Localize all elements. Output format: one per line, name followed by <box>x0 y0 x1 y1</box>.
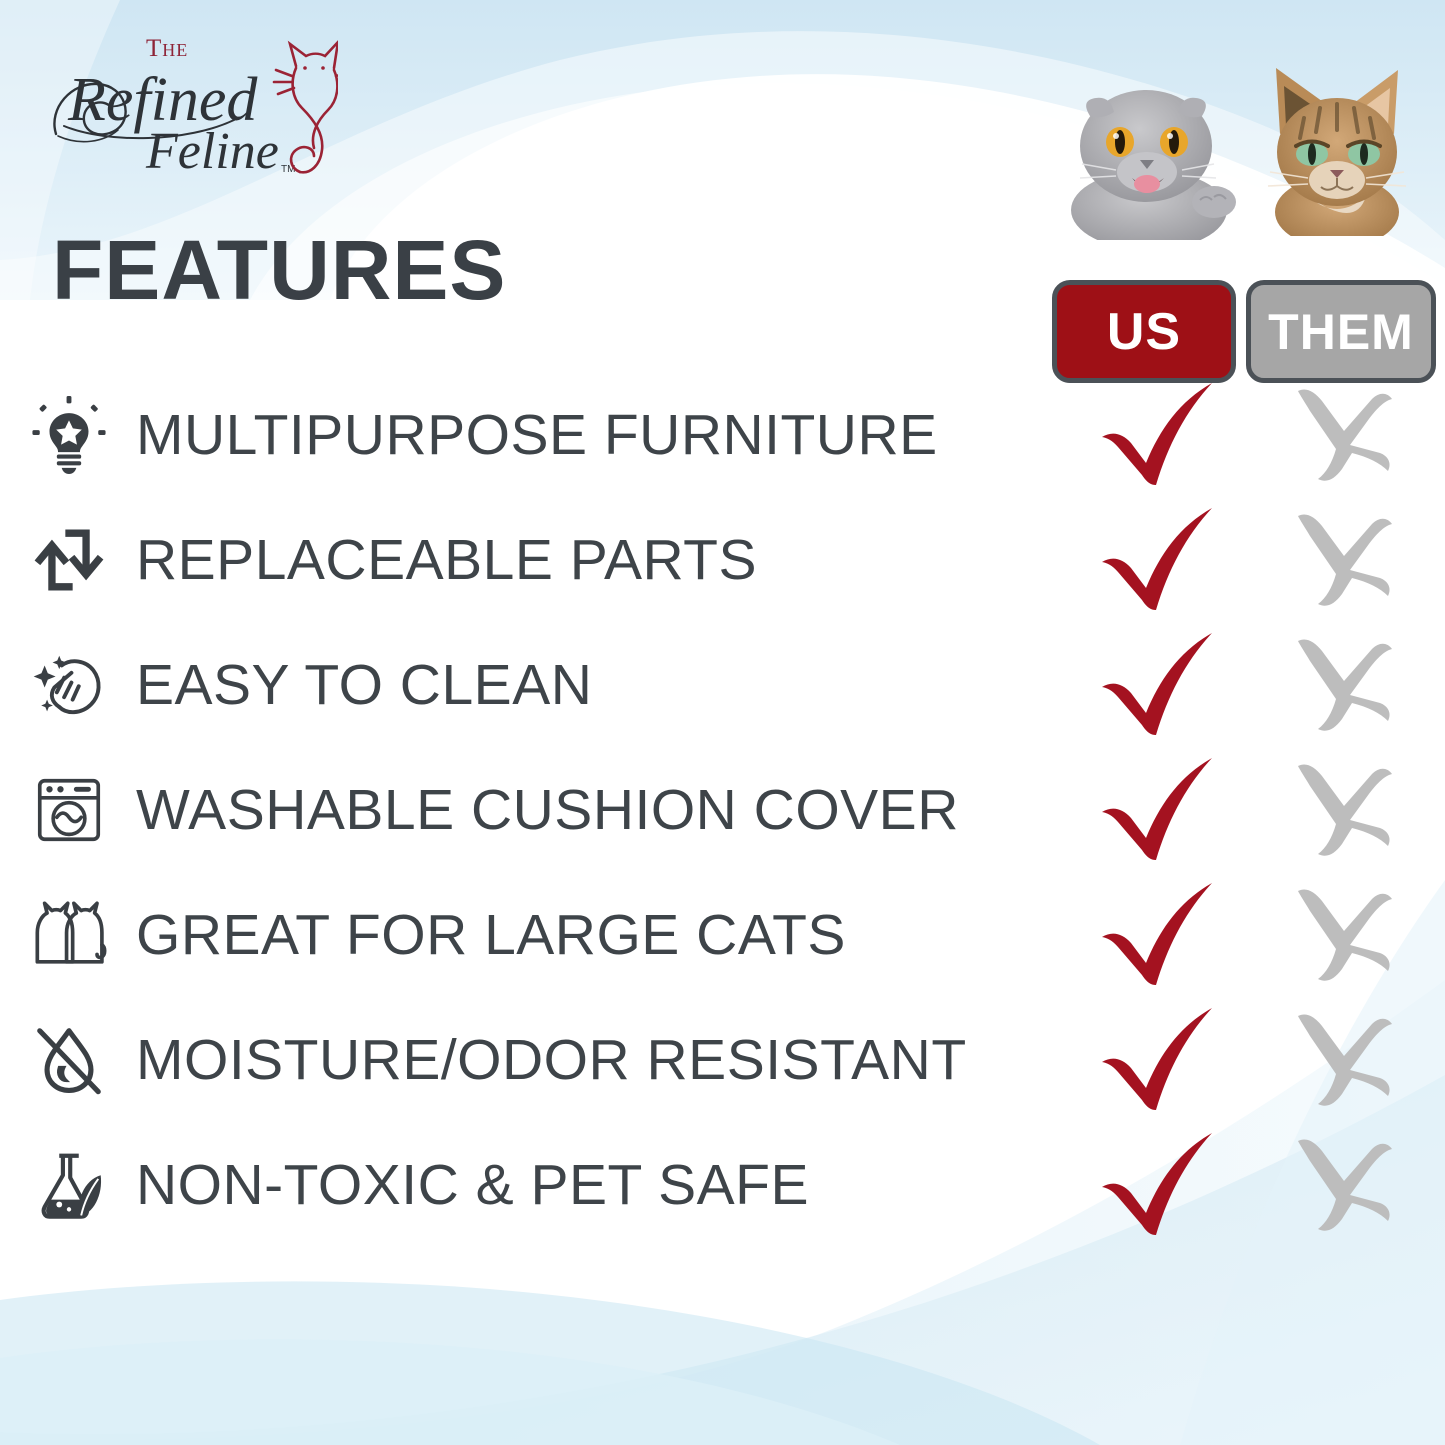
feature-row: MOISTURE/ODOR RESISTANT <box>0 997 1445 1122</box>
feature-label: NON-TOXIC & PET SAFE <box>136 1152 809 1218</box>
compare-header: US THEM <box>1048 60 1436 335</box>
feature-label: EASY TO CLEAN <box>136 652 592 718</box>
red-checkmark-icon <box>1098 1131 1218 1239</box>
red-checkmark-icon <box>1098 1006 1218 1114</box>
logo-feline-text: Feline <box>145 123 279 180</box>
feature-row: REPLACEABLE PARTS <box>0 497 1445 622</box>
grey-cross-icon <box>1288 385 1398 485</box>
grey-cross-icon <box>1288 885 1398 985</box>
hand-wipe-sparkle-icon <box>30 646 108 724</box>
feature-label: MULTIPURPOSE FURNITURE <box>136 402 938 468</box>
us-cat-photo <box>1054 60 1244 240</box>
feature-row: NON-TOXIC & PET SAFE <box>0 1122 1445 1247</box>
badge-us-label: US <box>1107 302 1181 362</box>
badge-them[interactable]: THEM <box>1246 280 1436 383</box>
feature-row: MULTIPURPOSE FURNITURE <box>0 372 1445 497</box>
grey-cross-icon <box>1288 760 1398 860</box>
two-cats-icon <box>30 896 108 974</box>
badge-us[interactable]: US <box>1052 280 1236 383</box>
grey-cross-icon <box>1288 1010 1398 1110</box>
red-checkmark-icon <box>1098 881 1218 989</box>
grey-cross-icon <box>1288 635 1398 735</box>
feature-row: WASHABLE CUSHION COVER <box>0 747 1445 872</box>
red-checkmark-icon <box>1098 631 1218 739</box>
lightbulb-star-icon <box>30 396 108 474</box>
feature-label: GREAT FOR LARGE CATS <box>136 902 846 968</box>
badge-them-label: THEM <box>1268 303 1414 361</box>
red-checkmark-icon <box>1098 381 1218 489</box>
grey-cross-icon <box>1288 510 1398 610</box>
grey-cross-icon <box>1288 1135 1398 1235</box>
red-checkmark-icon <box>1098 756 1218 864</box>
feature-label: MOISTURE/ODOR RESISTANT <box>136 1027 967 1093</box>
feature-label: WASHABLE CUSHION COVER <box>136 777 959 843</box>
flask-leaf-icon <box>30 1146 108 1224</box>
replace-arrows-icon <box>30 521 108 599</box>
them-cat-photo <box>1248 56 1426 236</box>
feature-list: MULTIPURPOSE FURNITURE <box>0 372 1445 1247</box>
washing-machine-icon <box>30 771 108 849</box>
logo-cat-icon <box>274 42 338 172</box>
brand-logo: The Refined Feline TM <box>38 22 338 182</box>
feature-row: GREAT FOR LARGE CATS <box>0 872 1445 997</box>
logo-the-text: The <box>146 35 188 62</box>
no-water-drop-icon <box>30 1021 108 1099</box>
red-checkmark-icon <box>1098 506 1218 614</box>
page-title: FEATURES <box>52 228 506 312</box>
feature-label: REPLACEABLE PARTS <box>136 527 757 593</box>
feature-row: EASY TO CLEAN <box>0 622 1445 747</box>
